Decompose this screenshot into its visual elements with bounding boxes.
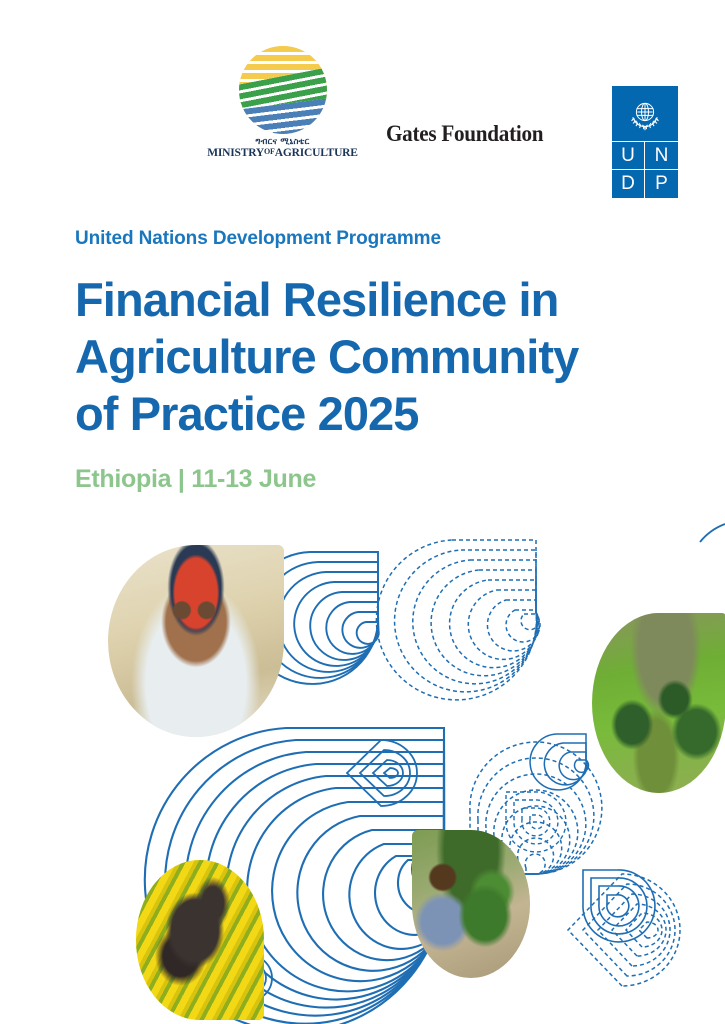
undp-letter-n: N <box>645 142 678 170</box>
ministry-of-agriculture-logo: ግብርና ሚኒስቴር MINISTRYOFAGRICULTURE <box>195 46 370 159</box>
photo-donkey-yellow-flowers <box>136 860 264 1020</box>
ministry-name-amharic: ግብርና ሚኒስቴር <box>195 137 370 147</box>
title-line-2-bold: Community <box>328 330 578 383</box>
title-line-2-light: Agriculture <box>75 330 328 383</box>
ministry-emblem-icon <box>239 46 327 134</box>
photo-farmer-papaya <box>412 830 530 978</box>
title-line-3: of Practice 2025 <box>75 387 419 440</box>
ministry-name-english: MINISTRYOFAGRICULTURE <box>195 147 370 159</box>
gates-foundation-logo: Gates Foundation <box>386 121 570 147</box>
page-title: Financial Resilience in Agriculture Comm… <box>75 272 675 443</box>
spiral-partial-top-right <box>700 524 725 542</box>
spiral-dashed-bottom-right <box>568 874 680 986</box>
un-emblem-icon <box>612 86 678 142</box>
ministry-name-en-post: AGRICULTURE <box>275 147 358 159</box>
undp-logo: U N D P <box>612 86 678 198</box>
undp-letter-u: U <box>612 142 645 170</box>
event-location-dates: Ethiopia | 11-13 June <box>75 465 675 494</box>
spiral-small-mid-right-arrow <box>347 740 417 806</box>
undp-letter-grid: U N D P <box>612 142 678 198</box>
organisation-name: United Nations Development Programme <box>75 228 675 250</box>
logo-bar: ግብርና ሚኒስቴር MINISTRYOFAGRICULTURE Gates F… <box>0 38 725 168</box>
subtitle-separator: | <box>171 465 191 493</box>
poster-page: ግብርና ሚኒስቴር MINISTRYOFAGRICULTURE Gates F… <box>0 0 725 1024</box>
header-block: United Nations Development Programme Fin… <box>75 228 675 494</box>
spiral-small-right-solid <box>583 870 655 942</box>
event-dates: 11-13 June <box>191 465 316 493</box>
spiral-dashed-upper-right <box>376 540 540 700</box>
ministry-name-en-pre: MINISTRY <box>207 147 264 159</box>
ministry-name-en-of: OF <box>264 147 275 156</box>
decorative-graphic-area <box>0 520 725 1024</box>
photo-woman-wheat-field <box>108 545 284 737</box>
photo-aerial-green-landscape <box>592 613 725 793</box>
event-location: Ethiopia <box>75 465 171 493</box>
undp-letter-p: P <box>645 170 678 198</box>
title-line-1: Financial Resilience in <box>75 273 558 326</box>
spiral-small-upper-right <box>530 734 588 790</box>
undp-letter-d: D <box>612 170 645 198</box>
